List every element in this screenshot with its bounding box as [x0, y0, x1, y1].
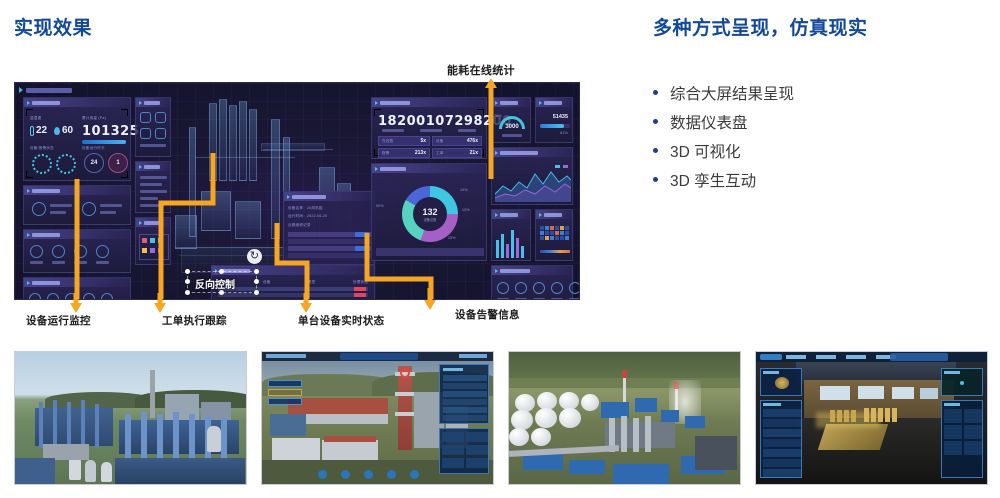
device-icon — [74, 245, 87, 258]
runtime-value-right: 1 — [116, 160, 119, 166]
tab-item[interactable] — [816, 355, 836, 359]
feature-list: 综合大屏结果呈现 数据仪表盘 3D 可视化 3D 孪生互动 — [653, 78, 993, 194]
list-item: 综合大屏结果呈现 — [653, 78, 993, 107]
callout-label-device-monitor: 设备运行监控 — [26, 313, 91, 328]
detail-action-button[interactable] — [355, 232, 369, 237]
panel-process-list — [135, 161, 171, 213]
meter-percent: 81% — [560, 131, 568, 135]
scene-overlay-list — [760, 400, 802, 478]
kpi-stat-label: 设备 — [436, 139, 444, 144]
env-label-alarms: 设备/报警状态 — [30, 146, 54, 151]
alarm-status-badge — [354, 287, 366, 291]
twin-nav-left[interactable] — [266, 354, 306, 358]
detail-row-label: 设备名称：2#风机组 — [288, 206, 323, 211]
gauge-percent: 70% — [494, 114, 502, 118]
callout-label-device-status: 单台设备实时状态 — [298, 313, 384, 328]
twin-bottom-toolbar[interactable] — [318, 470, 419, 479]
droplet-icon — [54, 127, 60, 135]
toolbar-icon[interactable] — [341, 470, 350, 479]
scene-overlay-minimap[interactable] — [941, 368, 983, 396]
camera-tile[interactable] — [944, 425, 962, 439]
donut-legend-pct: 50% — [376, 204, 384, 208]
thumbnail-row — [14, 351, 986, 485]
kpi-stat-unit: x — [423, 138, 426, 144]
scene-overlay-summary — [760, 368, 802, 396]
env-humidity: 60 — [62, 125, 73, 136]
device-icon — [551, 282, 563, 294]
panel-environment: 温湿度 累计用量 (Pa) 22 60 101325 设备/报警状态 设备运行时… — [23, 97, 131, 181]
tab-item[interactable] — [846, 355, 866, 359]
action-icon[interactable] — [155, 128, 166, 139]
thumbnail-petrochemical-aerial-render[interactable] — [508, 351, 741, 485]
twin-nav-right[interactable] — [459, 354, 487, 358]
donut-legend-pct: 10% — [462, 208, 470, 212]
scene-nav-tabs[interactable] — [786, 355, 896, 359]
env-label-count: 累计用量 (Pa) — [82, 116, 106, 121]
reverse-control-label: 反向控制 — [195, 276, 235, 291]
twin-side-metrics — [439, 428, 489, 474]
thumbnail-industrial-plant-3d-render[interactable] — [14, 351, 247, 485]
kpi-stat-unit: x — [423, 150, 426, 156]
callout-arrow-down-icon — [423, 288, 437, 310]
env-counter: 101325 — [82, 124, 139, 139]
list-item: 3D 孪生互动 — [653, 165, 993, 194]
panel-right-bottom-list — [491, 265, 573, 300]
env-label-runtime: 设备运行时长 — [82, 146, 105, 151]
device-icon — [515, 282, 527, 294]
dashboard-screenshot: 温湿度 累计用量 (Pa) 22 60 101325 设备/报警状态 设备运行时… — [14, 82, 580, 300]
kpi-stat-value: 476 — [467, 138, 475, 144]
callout-arrow-up-icon — [484, 76, 498, 110]
bullet-dot-icon — [653, 119, 658, 124]
list-item-label: 3D 可视化 — [670, 140, 741, 162]
device-icon — [533, 282, 545, 294]
scene-title — [890, 353, 948, 361]
trend-area-chart — [495, 164, 571, 202]
detail-row-label: 近期维修记录 — [288, 223, 311, 228]
twin-overlay-card[interactable] — [268, 389, 302, 396]
callout-label-energy: 能耗在线统计 — [447, 62, 515, 78]
twin-title-bar — [340, 353, 418, 360]
panel-device-status — [23, 185, 131, 225]
status-icon-1 — [32, 202, 46, 216]
detail-action-button[interactable] — [355, 246, 369, 251]
device-icon — [30, 245, 43, 258]
panel-donut-chart: 132 设备总数 50% 15% 10% 25% — [371, 163, 487, 261]
twin-overlay-card[interactable] — [268, 380, 302, 387]
callout-label-workorder: 工单执行跟踪 — [162, 313, 227, 328]
env-label-temp: 温湿度 — [30, 116, 41, 121]
device-icon — [47, 293, 59, 300]
runtime-value-left: 24 — [91, 160, 98, 166]
scene-logo — [760, 354, 782, 360]
twin-overlay-card[interactable] — [268, 398, 302, 405]
callout-arrow-down-icon — [299, 293, 313, 313]
device-icon — [29, 293, 41, 300]
table-row[interactable] — [218, 299, 368, 300]
device-icon — [83, 293, 95, 300]
action-icon[interactable] — [140, 128, 151, 139]
panel-energy-trend — [491, 147, 573, 205]
bullet-dot-icon — [653, 177, 658, 182]
device-icon — [101, 293, 113, 300]
device-icon — [497, 282, 509, 294]
donut-legend-pct: 25% — [448, 236, 456, 240]
panel-schematic — [135, 217, 171, 265]
action-icon[interactable] — [140, 112, 151, 123]
camera-tile[interactable] — [964, 425, 982, 439]
kpi-stat-unit: x — [475, 150, 478, 156]
dashboard-header-title — [19, 86, 139, 94]
heatmap-grid — [540, 226, 569, 240]
camera-tile[interactable] — [944, 441, 962, 455]
page-title-right: 多种方式呈现，仿真现实 — [653, 13, 868, 40]
kpi-stat-label: 工单 — [436, 151, 444, 156]
slide-root: 实现效果 多种方式呈现，仿真现实 综合大屏结果呈现 数据仪表盘 3D 可视化 3… — [0, 0, 1000, 498]
heatmap-legend — [540, 250, 570, 253]
kpi-value-1: 18200 — [378, 114, 426, 129]
list-item-label: 数据仪表盘 — [670, 111, 748, 133]
bar-chart — [496, 226, 528, 258]
device-icon — [52, 245, 65, 258]
status-icon-2 — [82, 202, 96, 216]
kpi-stat-unit: x — [475, 138, 478, 144]
env-temperature: 22 — [36, 125, 47, 136]
table-row[interactable] — [218, 293, 368, 297]
callout-label-alarm: 设备告警信息 — [455, 307, 520, 322]
camera-tile[interactable] — [964, 441, 982, 455]
legend-swatch — [555, 165, 560, 168]
list-item: 数据仪表盘 — [653, 107, 993, 136]
panel-header — [24, 98, 130, 107]
toolbar-icon[interactable] — [387, 470, 396, 479]
alarm-status-badge — [354, 293, 366, 297]
meter-value: 51435 — [553, 114, 568, 120]
page-title-left: 实现效果 — [14, 13, 92, 40]
bullet-dot-icon — [653, 148, 658, 153]
ring-gauge-a — [32, 154, 52, 174]
list-item-label: 3D 孪生互动 — [670, 169, 756, 191]
legend-swatch — [563, 165, 568, 168]
bullet-dot-icon — [653, 90, 658, 95]
thumbnail-indoor-facility-3d-scene[interactable] — [755, 351, 988, 485]
panel-meter: 51435 81% — [535, 97, 573, 143]
thumbnail-cement-plant-digital-twin[interactable] — [261, 351, 494, 485]
toolbar-icon[interactable] — [318, 470, 327, 479]
camera-tile[interactable] — [964, 409, 982, 423]
scene-overlay-camera-grid[interactable] — [941, 400, 983, 478]
list-item-label: 综合大屏结果呈现 — [670, 82, 794, 104]
panel-equipment-detail: 设备名称：2#风机组 运行时间：2022-06-20 近期维修记录 — [283, 191, 375, 265]
list-item: 3D 可视化 — [653, 136, 993, 165]
action-icon[interactable] — [155, 112, 166, 123]
alarm-col-device: 设备 — [263, 280, 271, 285]
panel-quick-actions — [135, 97, 171, 157]
donut-legend-pct: 15% — [460, 188, 468, 192]
tab-item[interactable] — [786, 355, 806, 359]
detail-row-label: 运行时间：2022-06-20 — [288, 214, 327, 219]
alarm-col-status: 处理状态 — [353, 280, 368, 285]
thermometer-icon — [30, 126, 34, 136]
donut-center-value: 132 — [422, 207, 437, 217]
gauge-value: 3000 — [501, 124, 523, 130]
panel-bar-chart — [491, 209, 531, 261]
donut-center-label: 设备总数 — [424, 217, 437, 222]
ring-gauge-b — [56, 154, 76, 174]
toolbar-icon[interactable] — [364, 470, 373, 479]
camera-tile[interactable] — [944, 409, 962, 423]
toolbar-icon[interactable] — [410, 470, 419, 479]
alarm-col-type: 类型 — [308, 280, 316, 285]
twin-side-panel — [439, 364, 489, 424]
kpi-stat-label: 报警 — [382, 151, 390, 156]
kpi-value-2: 10729 — [426, 114, 474, 129]
twin-hotspot-marker[interactable] — [400, 368, 410, 378]
panel-heatmap — [535, 209, 573, 261]
refresh-icon[interactable]: ↻ — [247, 249, 262, 264]
callout-arrow-down-icon — [69, 293, 83, 313]
panel-device-grid — [23, 229, 131, 273]
kpi-stat-label: 在线数 — [382, 139, 393, 144]
device-icon — [96, 245, 109, 258]
panel-kpi: 18200 10729 8200 在线数 5x 设备 476x 报警 213x … — [371, 97, 487, 159]
counter-underline — [82, 140, 126, 144]
kpi-stat-value: 213 — [415, 150, 423, 156]
device-icon — [569, 282, 580, 294]
callout-arrow-down-icon — [153, 293, 167, 313]
